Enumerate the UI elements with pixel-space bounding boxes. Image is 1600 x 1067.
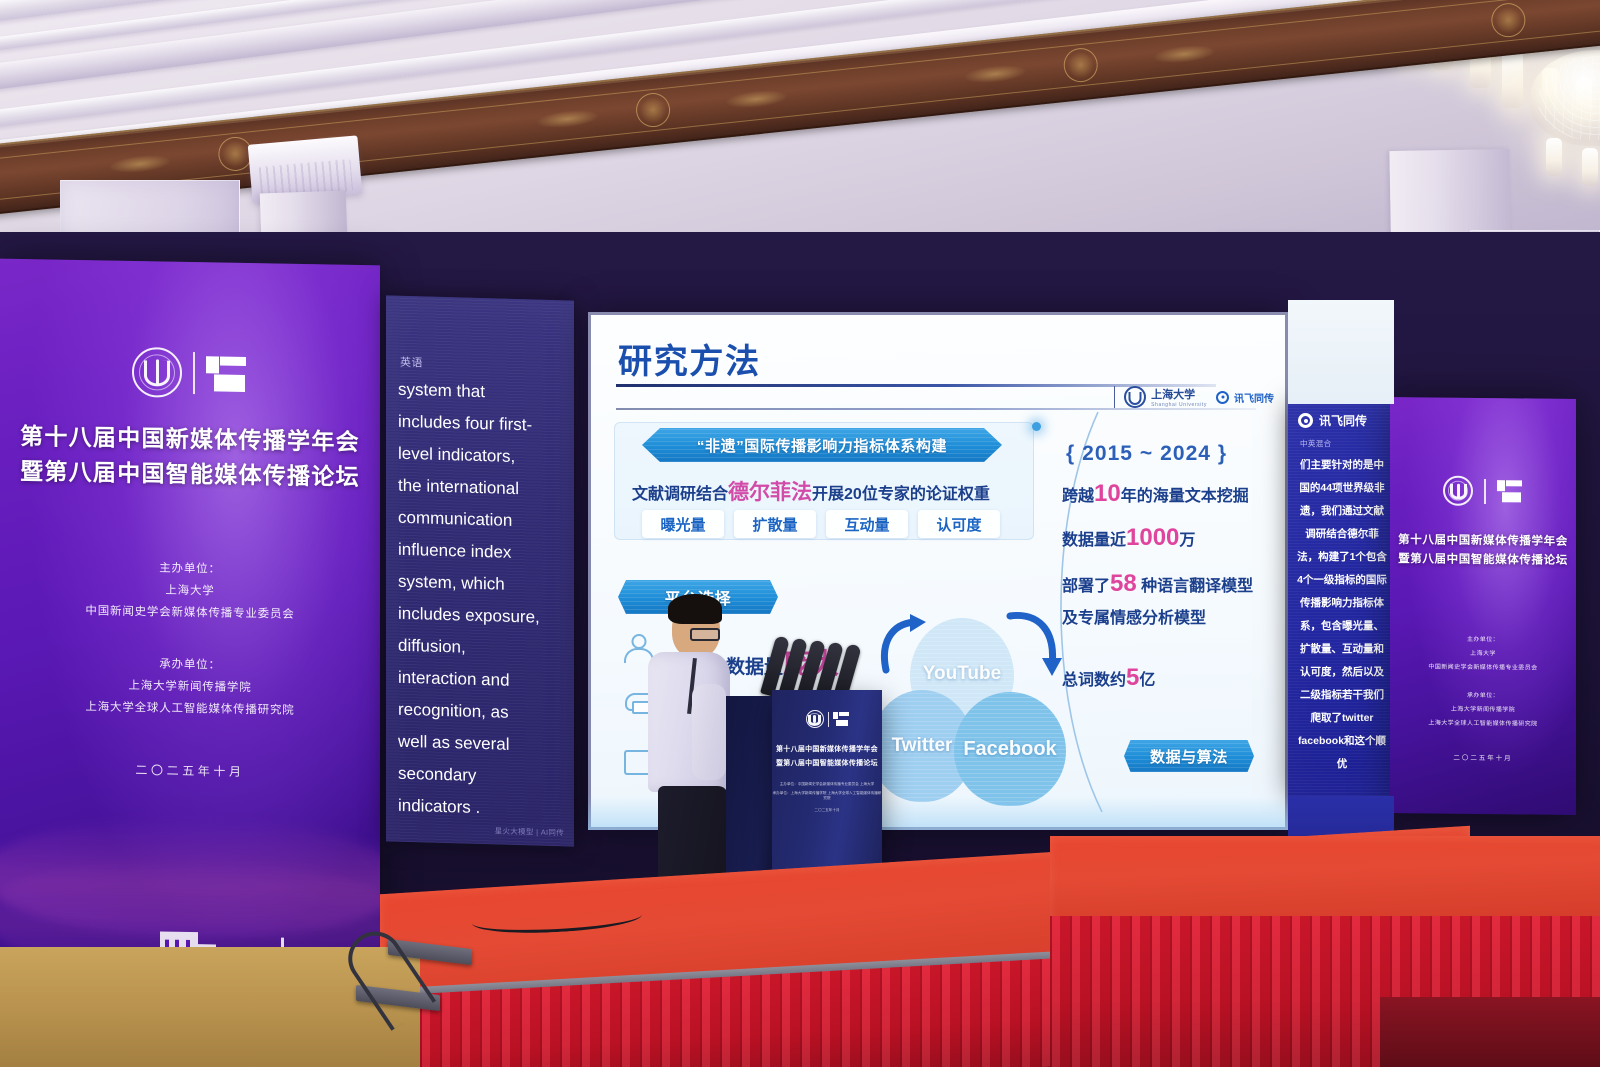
method-suffix: 开展20位专家的论证权重 xyxy=(812,486,990,503)
chinese-subtitle-panel: 讯飞同传 中英混合 们主要针对的是中国的44项世界级非遗，我们通过文献调研结合德… xyxy=(1288,404,1394,796)
speaker-hair xyxy=(668,594,722,624)
stat-number: 58 xyxy=(1110,570,1137,597)
subtitle-line: 遗，我们通过文献 xyxy=(1294,500,1390,523)
banner-title-line1: 第十八届中国新媒体传播学年会 xyxy=(1394,532,1572,550)
indicator-system-tag: “非遗”国际传播影响力指标体系构建 xyxy=(642,428,1002,462)
subtitle-line: system that xyxy=(398,374,566,411)
subtitle-line: diffusion, xyxy=(398,630,566,667)
subtitle-line: facebook和这个顺 xyxy=(1294,730,1390,753)
subtitle-line: 传播影响力指标体 xyxy=(1294,592,1390,615)
iflytek-brand-row: 讯飞同传 xyxy=(1298,412,1367,429)
subtitle-language-label: 英语 xyxy=(400,354,423,371)
subtitle-line: interaction and xyxy=(398,662,566,699)
subtitle-line: 认可度，然后以及 xyxy=(1294,661,1390,684)
stat-prefix: 部署了 xyxy=(1062,578,1110,595)
subtitle-line: the international xyxy=(398,470,566,507)
university-name: 上海大学 xyxy=(1151,386,1207,402)
logo-divider xyxy=(193,352,195,394)
subtitle-line: secondary xyxy=(398,758,566,795)
logo-divider xyxy=(1114,386,1116,408)
english-subtitle-text: system thatincludes four first-level ind… xyxy=(398,374,566,827)
year-range-label: { 2015 ~ 2024 } xyxy=(1066,442,1227,466)
subtitle-line: 优 xyxy=(1294,753,1390,776)
subtitle-line: 国的44项世界级非 xyxy=(1294,477,1390,500)
banner-organizer-label: 承办单位： xyxy=(1390,689,1576,700)
podium-date: 二〇二五年十月 xyxy=(772,808,882,813)
subtitle-line: communication xyxy=(398,502,566,539)
iflytek-ring-icon xyxy=(1216,391,1229,404)
logo-divider xyxy=(1484,479,1486,504)
stat-prefix: 总词数约 xyxy=(1062,672,1126,689)
stat-number: 10 xyxy=(1094,480,1121,507)
statistic-line: 部署了58 种语言翻译模型 xyxy=(1062,570,1253,598)
stage-steps xyxy=(346,940,476,1060)
conference-logo-lockup xyxy=(1390,475,1576,507)
indicator-chip: 扩散量 xyxy=(734,510,816,538)
data-algorithm-tag: 数据与算法 xyxy=(1124,740,1254,772)
banner-host-label: 主办单位： xyxy=(0,557,380,580)
stat-suffix: 年的海量文本挖掘 xyxy=(1121,488,1249,505)
ai-interpretation-watermark: 星火大模型 | AI同传 xyxy=(495,825,564,838)
crystal-chandelier xyxy=(1520,60,1600,200)
statistic-line: 数据量近1000万 xyxy=(1062,524,1195,552)
banner-title-line1: 第十八届中国新媒体传播学年会 xyxy=(10,421,370,458)
accent-dot xyxy=(1032,422,1041,431)
subtitle-line: well as several xyxy=(398,726,566,763)
stat-suffix: 亿 xyxy=(1139,672,1155,689)
shanghai-university-seal-icon xyxy=(1124,386,1146,408)
banner-organizer-2: 上海大学全球人工智能媒体传播研究院 xyxy=(1390,717,1576,728)
subtitle-line: level indicators, xyxy=(398,438,566,475)
subtitle-line: recognition, as xyxy=(398,694,566,731)
subtitle-line: 法，构建了1个包含 xyxy=(1294,546,1390,569)
subtitle-line: includes four first- xyxy=(398,406,566,443)
stat-suffix: 万 xyxy=(1179,532,1195,549)
partner-name: 讯飞同传 xyxy=(1234,390,1274,405)
indicator-chip: 曝光量 xyxy=(642,510,724,538)
statistic-line: 跨越10年的海量文本挖掘 xyxy=(1062,480,1249,508)
subtitle-line: 爬取了twitter xyxy=(1294,707,1390,730)
banner-organizer-2: 上海大学全球人工智能媒体传播研究院 xyxy=(0,697,380,720)
banner-host-1: 上海大学 xyxy=(0,579,380,602)
podium-title-line2: 暨第八届中国智能媒体传播论坛 xyxy=(772,758,882,768)
banner-host-2: 中国新闻史学会新媒体传播专业委员会 xyxy=(1390,661,1576,672)
podium-sub-line1: 主办单位：中国新闻史学会新媒体传播专业委员会 上海大学 xyxy=(772,782,882,787)
iflytek-brand-name: 讯飞同传 xyxy=(1319,412,1367,429)
podium-title-line1: 第十八届中国新媒体传播学年会 xyxy=(772,744,882,754)
podium-logo-lockup xyxy=(772,710,882,728)
statistic-line: 及专属情感分析模型 xyxy=(1062,604,1206,628)
banner-date: 二〇二五年十月 xyxy=(0,759,380,783)
method-prefix: 文献调研结合 xyxy=(632,486,728,503)
banner-host-1: 上海大学 xyxy=(1390,647,1576,658)
subtitle-line: 扩散量、互动量和 xyxy=(1294,638,1390,661)
title-underline-secondary xyxy=(616,408,1256,410)
subtitle-line: influence index xyxy=(398,534,566,571)
podium-sub-line2: 承办单位：上海大学新闻传播学院 上海大学全球人工智能媒体传播研究院 xyxy=(772,791,882,801)
iflytek-logo: 讯飞同传 xyxy=(1216,390,1274,405)
speaker-arm xyxy=(692,684,726,780)
subtitle-line: 系，包含曝光量、 xyxy=(1294,615,1390,638)
slide-partner-logos: 上海大学 Shanghai University 讯飞同传 xyxy=(1114,386,1274,408)
banner-host-label: 主办单位： xyxy=(1390,633,1576,644)
banner-title-line2: 暨第八届中国智能媒体传播论坛 xyxy=(1394,551,1572,569)
university-name-en: Shanghai University xyxy=(1151,402,1207,408)
logo-divider xyxy=(828,712,829,727)
right-conference-banner: 第十八届中国新媒体传播学年会 暨第八届中国智能媒体传播论坛 主办单位： 上海大学… xyxy=(1390,397,1576,815)
banner-date: 二〇二五年十月 xyxy=(1390,751,1576,763)
banner-organizer-label: 承办单位： xyxy=(0,653,380,676)
statistic-line: 总词数约5亿 xyxy=(1062,664,1155,692)
subtitle-line: 二级指标若干我们 xyxy=(1294,684,1390,707)
forum-mark-icon xyxy=(1497,478,1523,504)
stat-number: 5 xyxy=(1126,664,1139,691)
banner-title-line2: 暨第八届中国智能媒体传播论坛 xyxy=(10,456,370,493)
indicator-chip-row: 曝光量扩散量互动量认可度 xyxy=(642,510,1000,538)
stat-prefix: 数据量近 xyxy=(1062,532,1126,549)
shanghai-university-seal-icon xyxy=(132,347,182,398)
subtitle-line: indicators . xyxy=(398,790,566,827)
left-conference-banner: 第十八届中国新媒体传播学年会 暨第八届中国智能媒体传播论坛 主办单位： 上海大学… xyxy=(0,259,380,1014)
stage-platform-top-rear xyxy=(1050,836,1600,922)
stage-skirt-shadow xyxy=(1380,997,1600,1067)
subtitle-line: 们主要针对的是中 xyxy=(1294,454,1390,477)
stat-number: 1000 xyxy=(1126,524,1179,551)
stat-suffix: 种语言翻译模型 xyxy=(1137,578,1253,595)
forum-mark-icon xyxy=(833,711,849,727)
chinese-subtitle-text: 们主要针对的是中国的44项世界级非遗，我们通过文献调研结合德尔菲法，构建了1个包… xyxy=(1294,454,1390,776)
subtitle-language-label: 中英混合 xyxy=(1300,438,1332,449)
speaker-glasses xyxy=(690,628,720,641)
iflytek-ring-icon xyxy=(1298,413,1313,428)
shanghai-university-logo: 上海大学 Shanghai University xyxy=(1124,386,1207,408)
banner-organizer-1: 上海大学新闻传播学院 xyxy=(1390,703,1576,714)
subtitle-line: system, which xyxy=(398,566,566,603)
banner-host-2: 中国新闻史学会新媒体传播专业委员会 xyxy=(0,601,380,624)
indicator-chip: 互动量 xyxy=(826,510,908,538)
forum-mark-icon xyxy=(206,352,248,395)
shanghai-university-seal-icon xyxy=(1443,476,1473,506)
stat-suffix: 及专属情感分析模型 xyxy=(1062,610,1206,627)
slide-title: 研究方法 xyxy=(618,334,761,383)
subtitle-line: 4个一级指标的国际 xyxy=(1294,569,1390,592)
stat-prefix: 跨越 xyxy=(1062,488,1094,505)
conference-stage-photo: 第十八届中国新媒体传播学年会 暨第八届中国智能媒体传播论坛 主办单位： 上海大学… xyxy=(0,0,1600,1067)
method-highlight: 德尔菲法 xyxy=(728,481,812,504)
subtitle-line: 调研结合德尔菲 xyxy=(1294,523,1390,546)
banner-organizer-1: 上海大学新闻传播学院 xyxy=(0,675,380,698)
delphi-method-line: 文献调研结合德尔菲法开展20位专家的论证权重 xyxy=(632,476,990,506)
conference-logo-lockup xyxy=(0,345,380,402)
screen-right-margin xyxy=(1288,300,1394,404)
subtitle-line: includes exposure, xyxy=(398,598,566,635)
english-subtitle-panel: 英语 system thatincludes four first-level … xyxy=(386,295,574,846)
indicator-chip: 认可度 xyxy=(918,510,1000,538)
shanghai-university-seal-icon xyxy=(806,710,824,728)
